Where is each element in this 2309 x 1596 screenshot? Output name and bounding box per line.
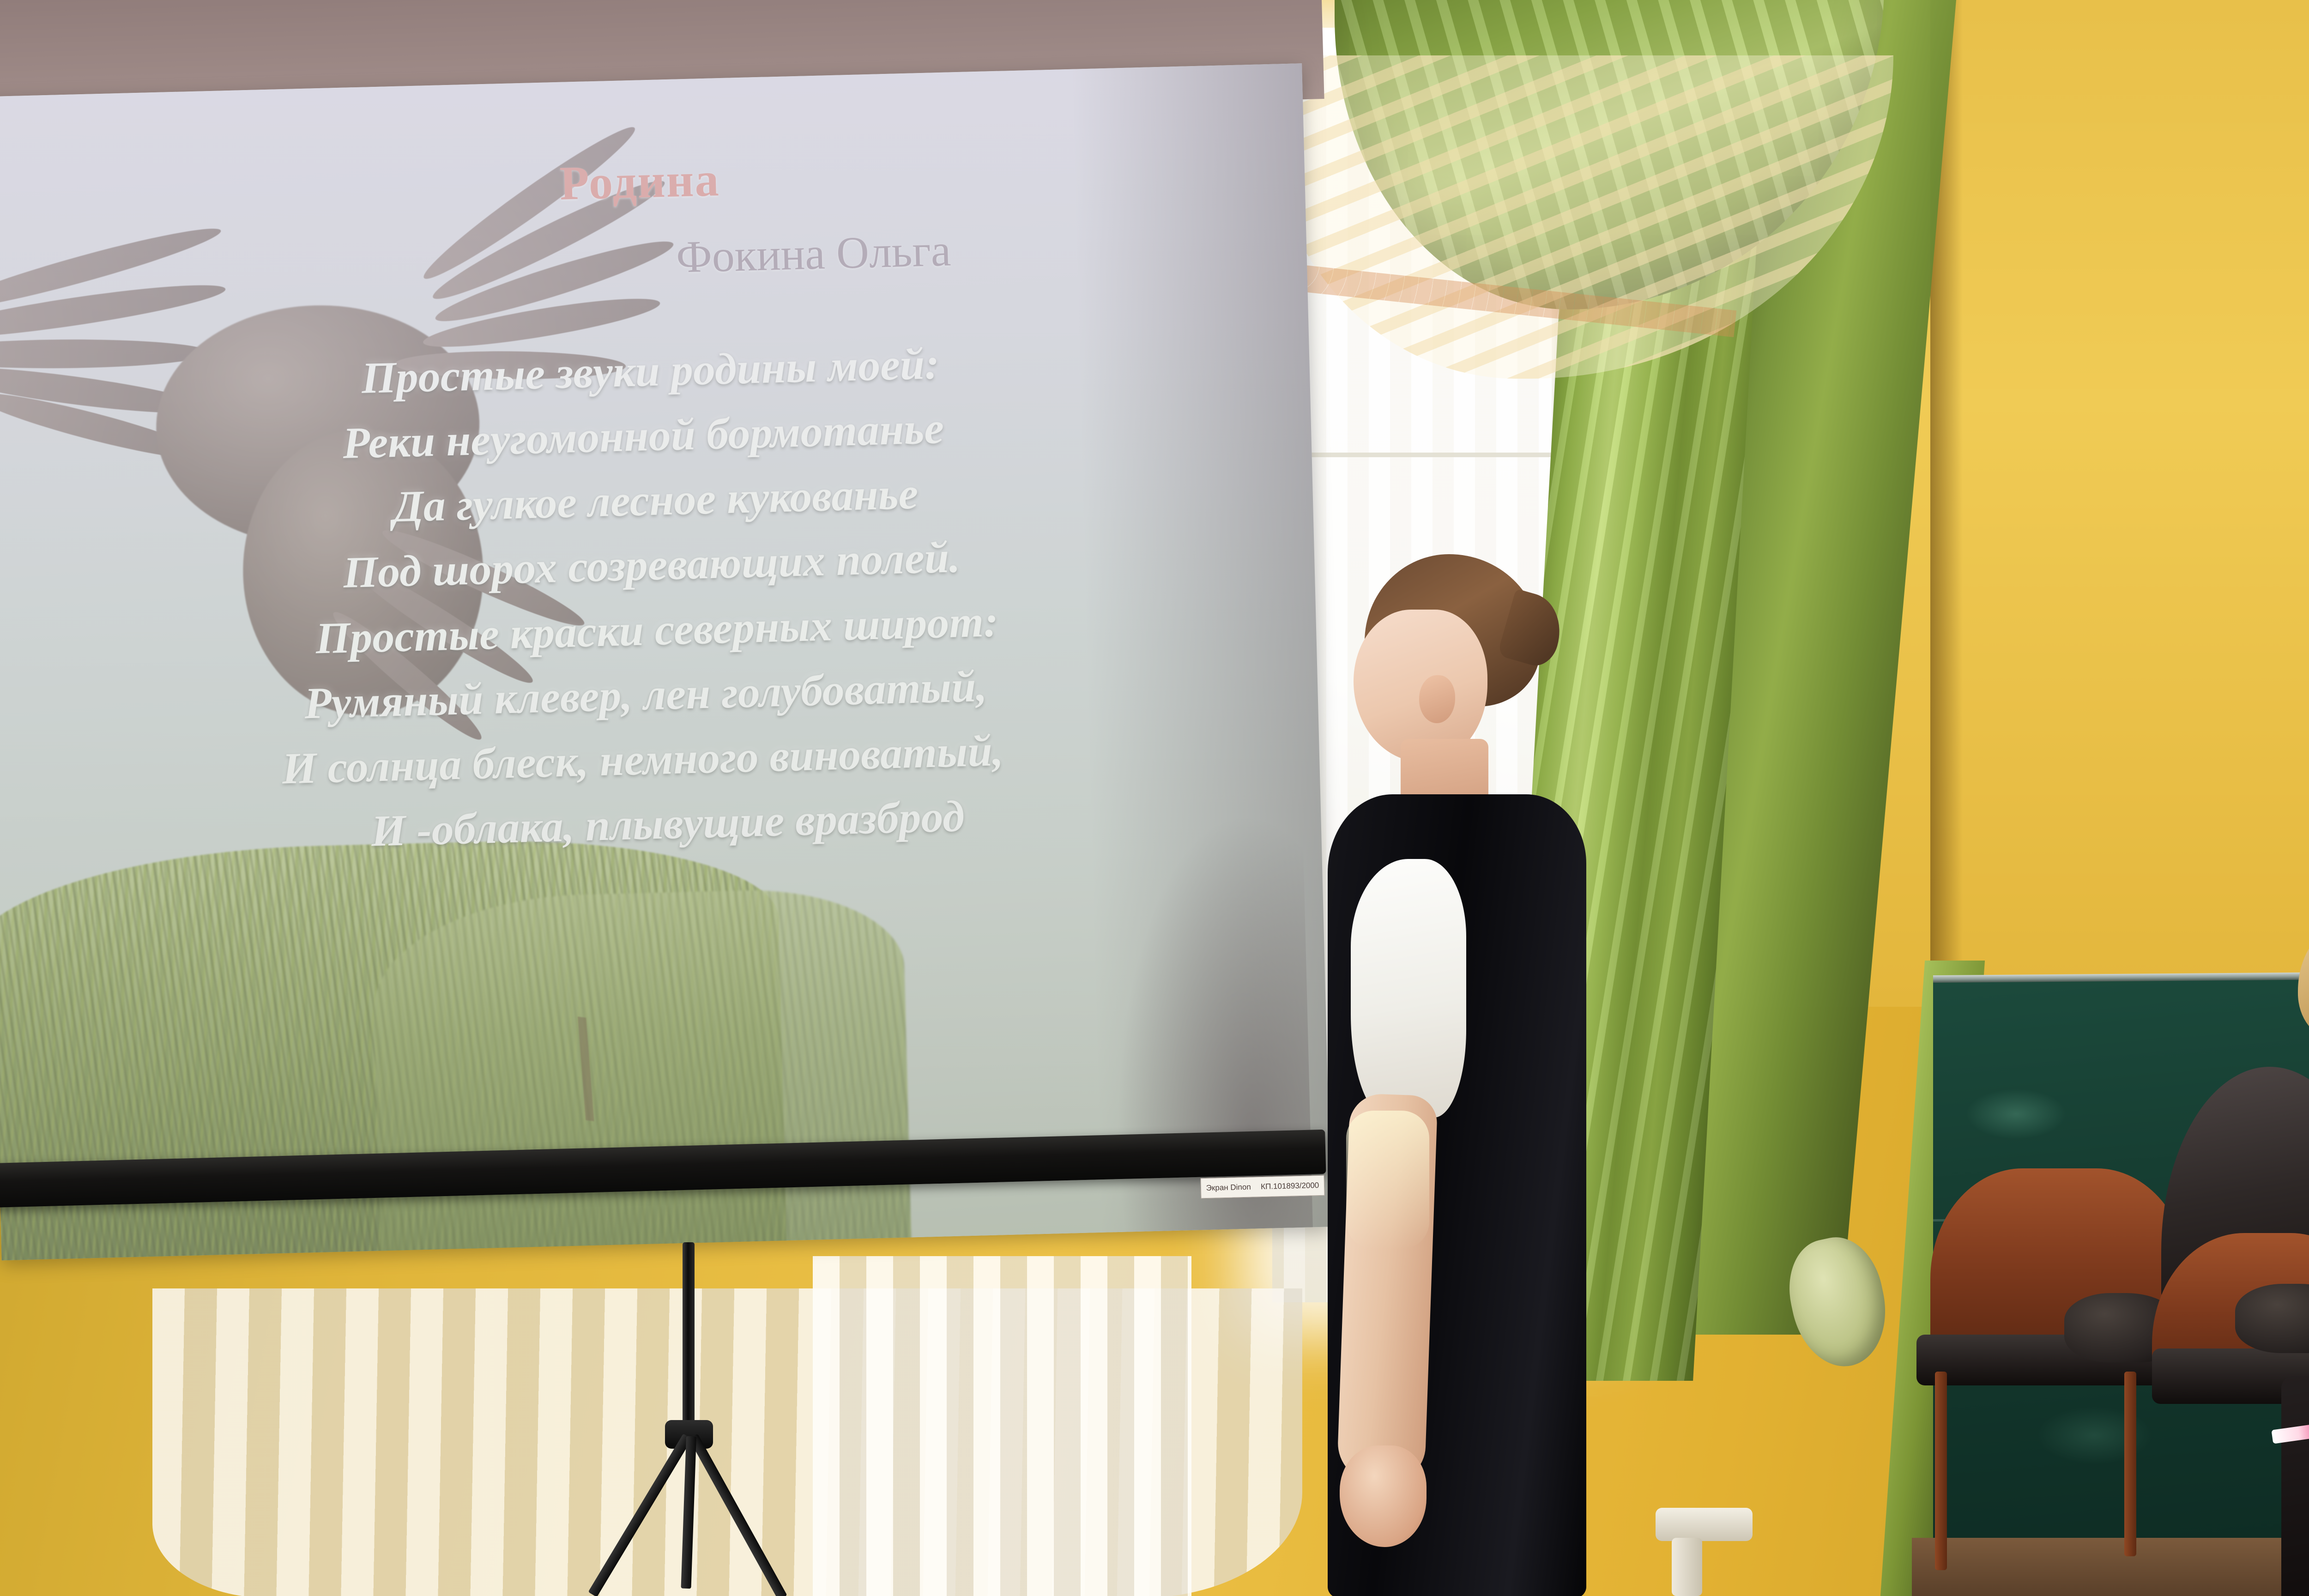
tripod-center-column bbox=[683, 1242, 695, 1436]
chair-leg bbox=[1935, 1372, 1947, 1570]
girl-hair bbox=[2298, 924, 2309, 1039]
boy-hand bbox=[1340, 1445, 1427, 1547]
projector-screen[interactable]: Родина Фокина Ольга Простые звуки родины… bbox=[0, 63, 1331, 1260]
window-mullion bbox=[1275, 453, 1561, 457]
chair-leg bbox=[2124, 1372, 2136, 1556]
poem-block: Простые звуки родины моей: Реки неугомон… bbox=[0, 322, 1322, 873]
boy-white-tshirt bbox=[1351, 859, 1466, 1118]
radiator-pipe-vertical bbox=[1672, 1538, 1702, 1596]
radiator-pipe bbox=[1656, 1508, 1753, 1541]
white-sheer-curtain-lower-2 bbox=[813, 1256, 1191, 1596]
slide-author: Фокина Ольга bbox=[676, 225, 952, 284]
screen-label-left-text: Экран Dinon bbox=[1206, 1183, 1251, 1193]
slide-text-layer: Родина Фокина Ольга Простые звуки родины… bbox=[0, 63, 1331, 1260]
boy-arm bbox=[1336, 1093, 1438, 1484]
classroom-presentation-photo: Родина Фокина Ольга Простые звуки родины… bbox=[0, 0, 2309, 1596]
boy-ear bbox=[1419, 675, 1455, 723]
seated-girl bbox=[2254, 924, 2309, 1596]
slide-title: Родина bbox=[0, 137, 1305, 226]
screen-canvas: Родина Фокина Ольга Простые звуки родины… bbox=[0, 63, 1331, 1260]
presenter-boy bbox=[1295, 554, 1646, 1596]
girl-skirt bbox=[2281, 1376, 2309, 1596]
